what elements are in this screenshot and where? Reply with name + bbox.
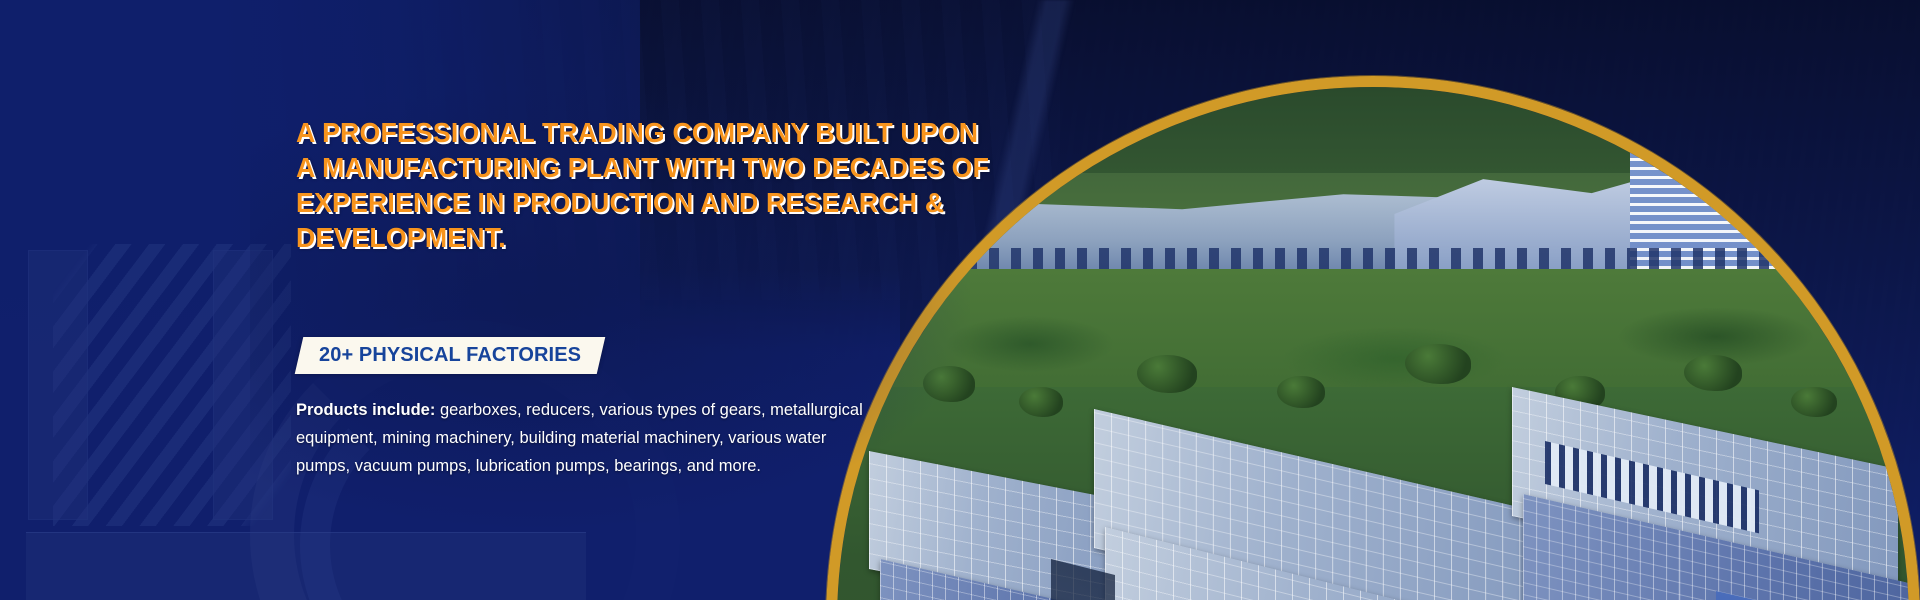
badge-label: 20+ PHYSICAL FACTORIES: [319, 344, 581, 367]
paragraph-line-3: pumps, vacuum pumps, lubrication pumps, …: [296, 452, 896, 480]
paragraph-line-1-rest: gearboxes, reducers, various types of ge…: [435, 401, 862, 419]
paragraph-line-1: Products include: gearboxes, reducers, v…: [296, 396, 896, 424]
products-paragraph: Products include: gearboxes, reducers, v…: [296, 396, 896, 480]
headline-line-2: A MANUFACTURING PLANT WITH TWO DECADES O…: [296, 150, 975, 185]
headline-line-1: A PROFESSIONAL TRADING COMPANY BUILT UPO…: [296, 115, 975, 150]
physical-factories-badge: 20+ PHYSICAL FACTORIES: [295, 337, 606, 374]
promo-banner: A PROFESSIONAL TRADING COMPANY BUILT UPO…: [0, 0, 1920, 600]
headline-line-4: DEVELOPMENT.: [296, 220, 975, 255]
paragraph-lead: Products include:: [296, 401, 435, 419]
headline-line-3: EXPERIENCE IN PRODUCTION AND RESEARCH &: [296, 185, 975, 220]
paragraph-line-2: equipment, mining machinery, building ma…: [296, 424, 896, 452]
banner-copy: A PROFESSIONAL TRADING COMPANY BUILT UPO…: [0, 0, 1000, 600]
headline: A PROFESSIONAL TRADING COMPANY BUILT UPO…: [296, 115, 975, 255]
